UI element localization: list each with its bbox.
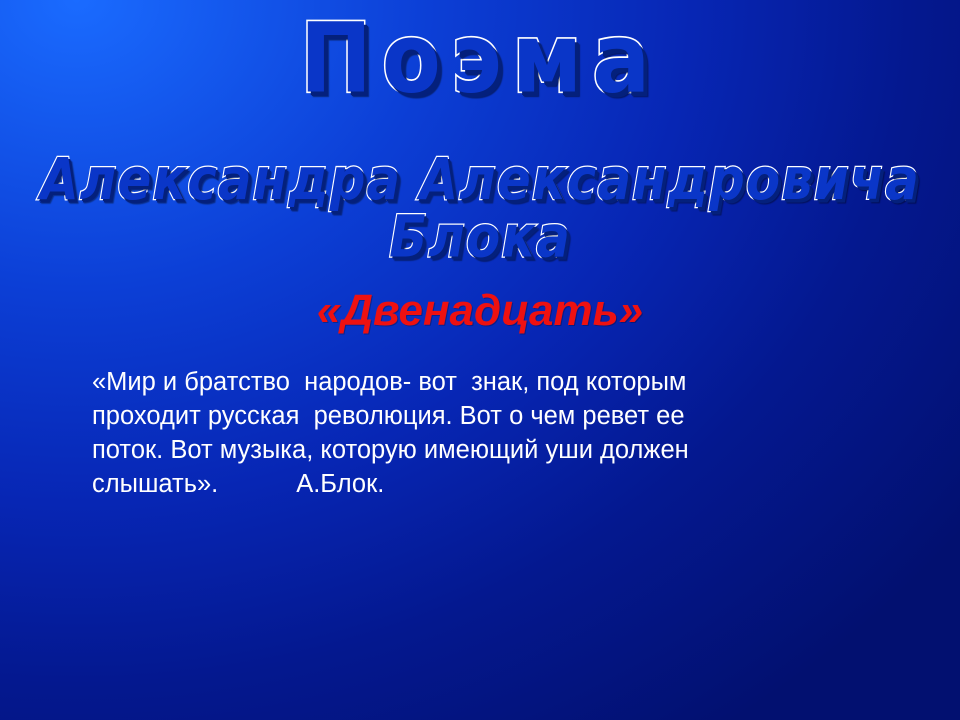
quote-line: проходит русская революция. Вот о чем ре…	[92, 400, 876, 434]
slide-heading-author: Александра Александровича Блока	[0, 158, 960, 258]
quote-line: «Мир и братство народов- вот знак, под к…	[92, 366, 876, 400]
wordart-author-text: Александра Александровича Блока	[0, 151, 960, 266]
quote-line-attribution: слышать». А.Блок.	[92, 468, 876, 502]
slide-heading-poem: Поэма	[0, 16, 960, 102]
presentation-slide: Поэма Александра Александровича Блока «Д…	[0, 0, 960, 720]
quote-line: поток. Вот музыка, которую имеющий уши д…	[92, 434, 876, 468]
work-title: «Двенадцать»	[0, 286, 960, 336]
quote-block: «Мир и братство народов- вот знак, под к…	[92, 366, 876, 502]
wordart-poem-text: Поэма	[300, 11, 660, 107]
